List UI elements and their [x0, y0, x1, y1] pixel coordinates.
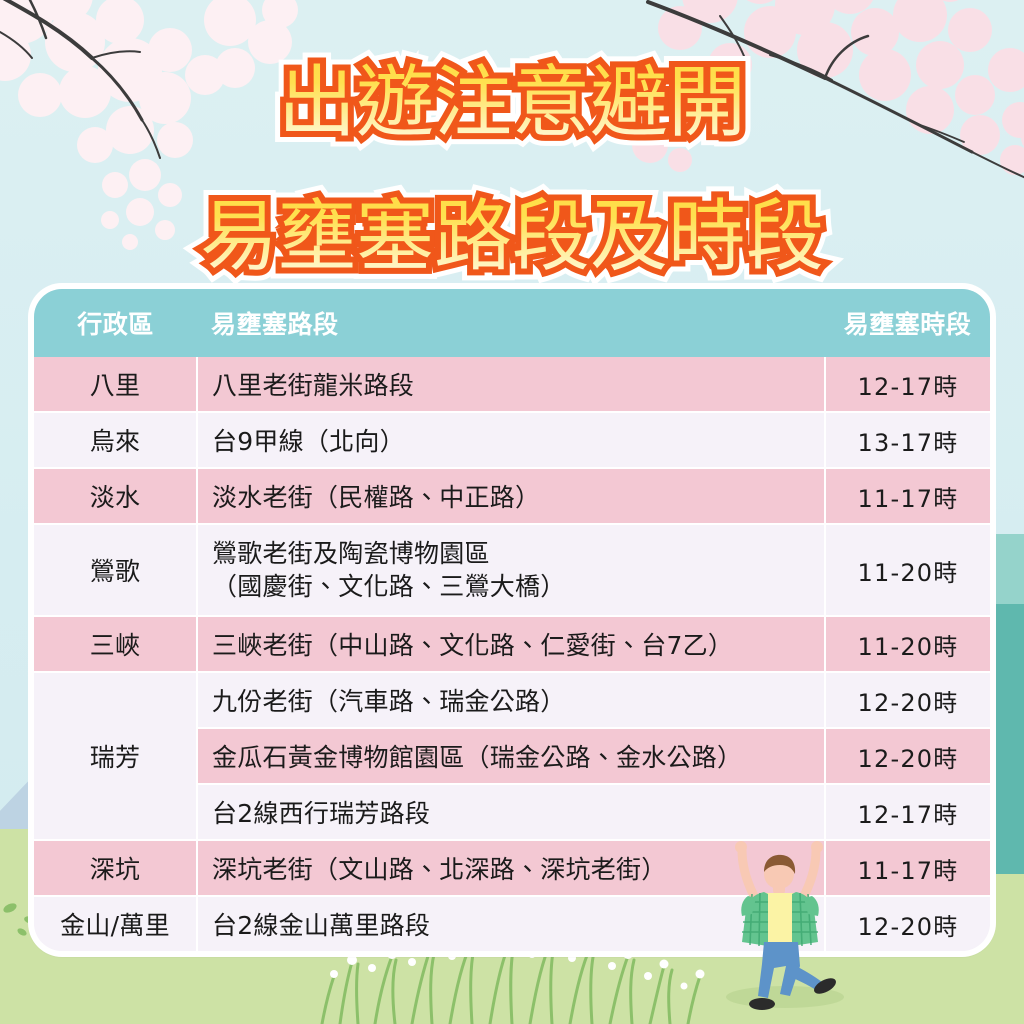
- cell-road-line1: 鶯歌老街及陶瓷博物園區: [212, 537, 823, 570]
- table-row: 金山/萬里 台2線金山萬里路段 12-20時: [34, 896, 990, 951]
- cell-time: 12-20時: [825, 728, 990, 784]
- cell-district: 三峽: [34, 616, 197, 672]
- cell-district: 淡水: [34, 468, 197, 524]
- cell-district: 鶯歌: [34, 524, 197, 616]
- cherry-blossom-top-left: [0, 0, 400, 310]
- cell-time: 12-17時: [825, 357, 990, 412]
- cell-road: 金瓜石黃金博物館園區（瑞金公路、金水公路）: [197, 728, 825, 784]
- cell-time: 11-20時: [825, 524, 990, 616]
- cell-road: 鶯歌老街及陶瓷博物園區 （國慶街、文化路、三鶯大橋）: [197, 524, 825, 616]
- table-row: 三峽 三峽老街（中山路、文化路、仁愛街、台7乙） 11-20時: [34, 616, 990, 672]
- table-row: 八里 八里老街龍米路段 12-17時: [34, 357, 990, 412]
- table-header-row: 行政區 易壅塞路段 易壅塞時段: [34, 289, 990, 357]
- cell-district: 深坑: [34, 840, 197, 896]
- cell-road: 深坑老街（文山路、北深路、深坑老街）: [197, 840, 825, 896]
- table-row: 瑞芳 九份老街（汽車路、瑞金公路） 12-20時: [34, 672, 990, 728]
- cell-road-line2: （國慶街、文化路、三鶯大橋）: [212, 570, 823, 603]
- cell-road: 八里老街龍米路段: [197, 357, 825, 412]
- runner-shadow: [726, 986, 844, 1008]
- cell-time: 11-17時: [825, 840, 990, 896]
- traffic-table-card: 行政區 易壅塞路段 易壅塞時段 八里 八里老街龍米路段 12-17時 烏來: [28, 283, 996, 957]
- cell-road: 淡水老街（民權路、中正路）: [197, 468, 825, 524]
- cherry-blossom-top-right: [620, 0, 1024, 270]
- table-row: 烏來 台9甲線（北向） 13-17時: [34, 412, 990, 468]
- table-row: 鶯歌 鶯歌老街及陶瓷博物園區 （國慶街、文化路、三鶯大橋） 11-20時: [34, 524, 990, 616]
- poster-canvas: 出遊注意避開 出遊注意避開 出遊注意避開 易壅塞路段及時段 易壅塞路段及時段 易…: [0, 0, 1024, 1024]
- cell-district: 金山/萬里: [34, 896, 197, 951]
- cell-road: 台9甲線（北向）: [197, 412, 825, 468]
- cell-time: 11-17時: [825, 468, 990, 524]
- cell-time: 12-17時: [825, 784, 990, 840]
- cell-district-merged: 瑞芳: [34, 672, 197, 840]
- cell-time: 12-20時: [825, 672, 990, 728]
- cell-road: 九份老街（汽車路、瑞金公路）: [197, 672, 825, 728]
- cell-road: 三峽老街（中山路、文化路、仁愛街、台7乙）: [197, 616, 825, 672]
- cell-time: 12-20時: [825, 896, 990, 951]
- column-header-road: 易壅塞路段: [197, 289, 825, 357]
- cell-road: 台2線西行瑞芳路段: [197, 784, 825, 840]
- cell-road: 台2線金山萬里路段: [197, 896, 825, 951]
- traffic-table: 行政區 易壅塞路段 易壅塞時段 八里 八里老街龍米路段 12-17時 烏來: [34, 289, 990, 951]
- table-row: 深坑 深坑老街（文山路、北深路、深坑老街） 11-17時: [34, 840, 990, 896]
- column-header-district: 行政區: [34, 289, 197, 357]
- cell-district: 烏來: [34, 412, 197, 468]
- cell-district: 八里: [34, 357, 197, 412]
- cell-time: 13-17時: [825, 412, 990, 468]
- column-header-time: 易壅塞時段: [825, 289, 990, 357]
- table-row: 淡水 淡水老街（民權路、中正路） 11-17時: [34, 468, 990, 524]
- cell-time: 11-20時: [825, 616, 990, 672]
